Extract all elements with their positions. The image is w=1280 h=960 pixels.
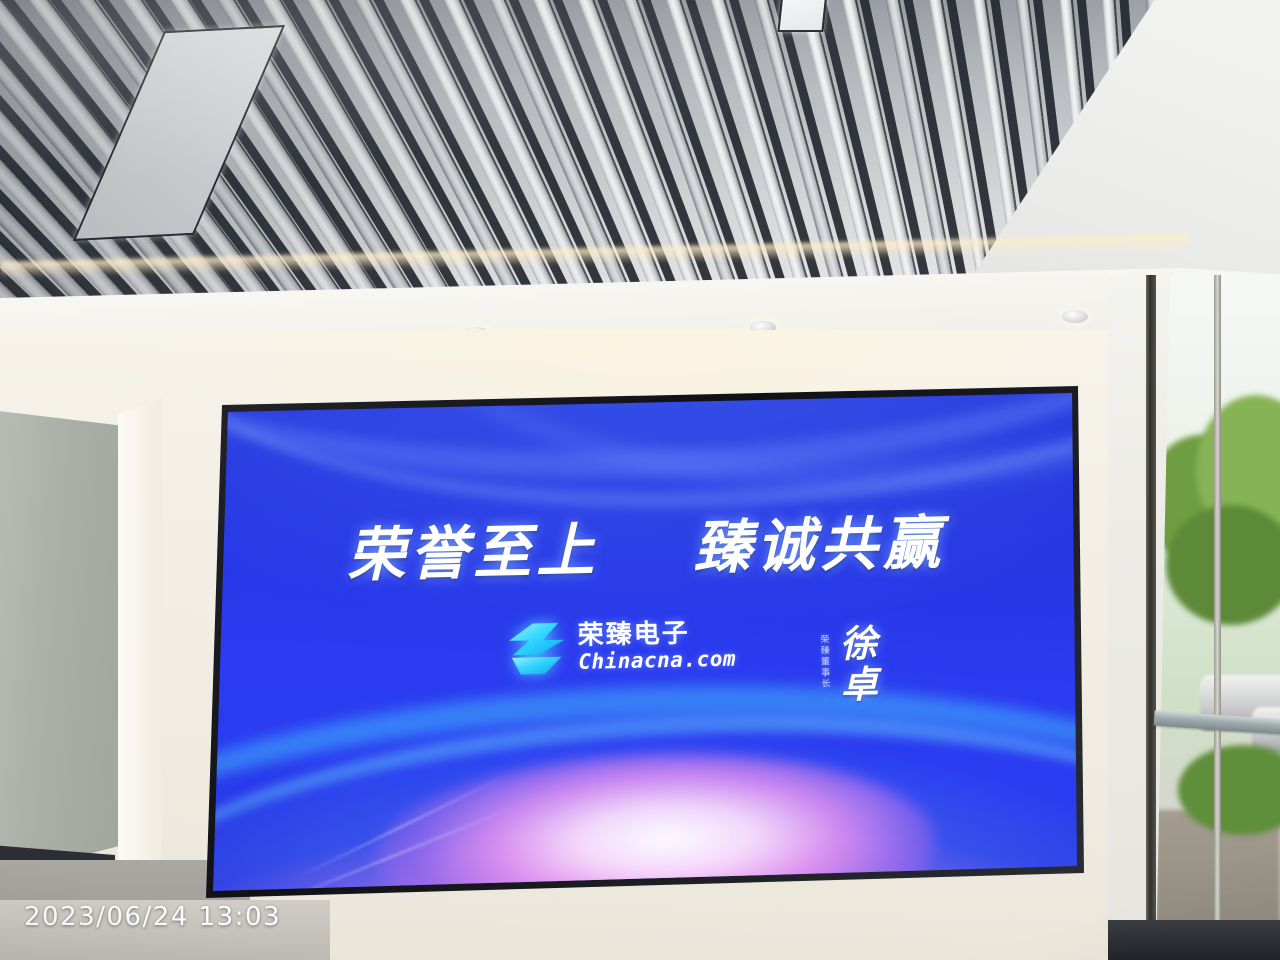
tree-foliage-3 bbox=[1166, 505, 1280, 625]
window-wall bbox=[1108, 275, 1280, 960]
window-sill-dark bbox=[1108, 920, 1280, 960]
brand-text: 荣臻电子 Chinacna.com bbox=[577, 620, 736, 673]
headline-left: 荣誉至上 bbox=[346, 516, 599, 589]
screen-headline: 荣誉至上 臻诚共赢 bbox=[206, 492, 1086, 595]
door-jamb bbox=[118, 398, 162, 918]
photo-canvas: 荣誉至上 臻诚共赢 荣臻电子 bbox=[0, 0, 1280, 960]
headline-gap bbox=[625, 569, 669, 570]
signature-title: 荣臻董事长 bbox=[817, 634, 831, 689]
ceiling-panel-light-2 bbox=[777, 0, 828, 32]
chinacna-diamond-z-logo-icon bbox=[505, 619, 568, 678]
brand-name-en: Chinacna.com bbox=[578, 649, 736, 673]
signature-name: 徐卓 bbox=[835, 623, 876, 706]
screen-surface[interactable]: 荣誉至上 臻诚共赢 荣臻电子 bbox=[206, 386, 1086, 898]
brand-name-cn: 荣臻电子 bbox=[577, 620, 735, 649]
downlight-4 bbox=[1062, 310, 1088, 323]
window-mullion bbox=[1214, 275, 1221, 960]
chairman-signature: 荣臻董事长 徐卓 bbox=[817, 623, 876, 706]
brand-lockup: 荣臻电子 Chinacna.com bbox=[505, 616, 736, 679]
window-frame-edge bbox=[1146, 275, 1156, 960]
timestamp-watermark: 2023/06/24 13:03 bbox=[24, 902, 281, 932]
window-glass bbox=[1156, 275, 1280, 960]
headline-right: 臻诚共赢 bbox=[693, 508, 946, 581]
led-video-wall[interactable]: 荣誉至上 臻诚共赢 荣臻电子 bbox=[206, 386, 1086, 898]
